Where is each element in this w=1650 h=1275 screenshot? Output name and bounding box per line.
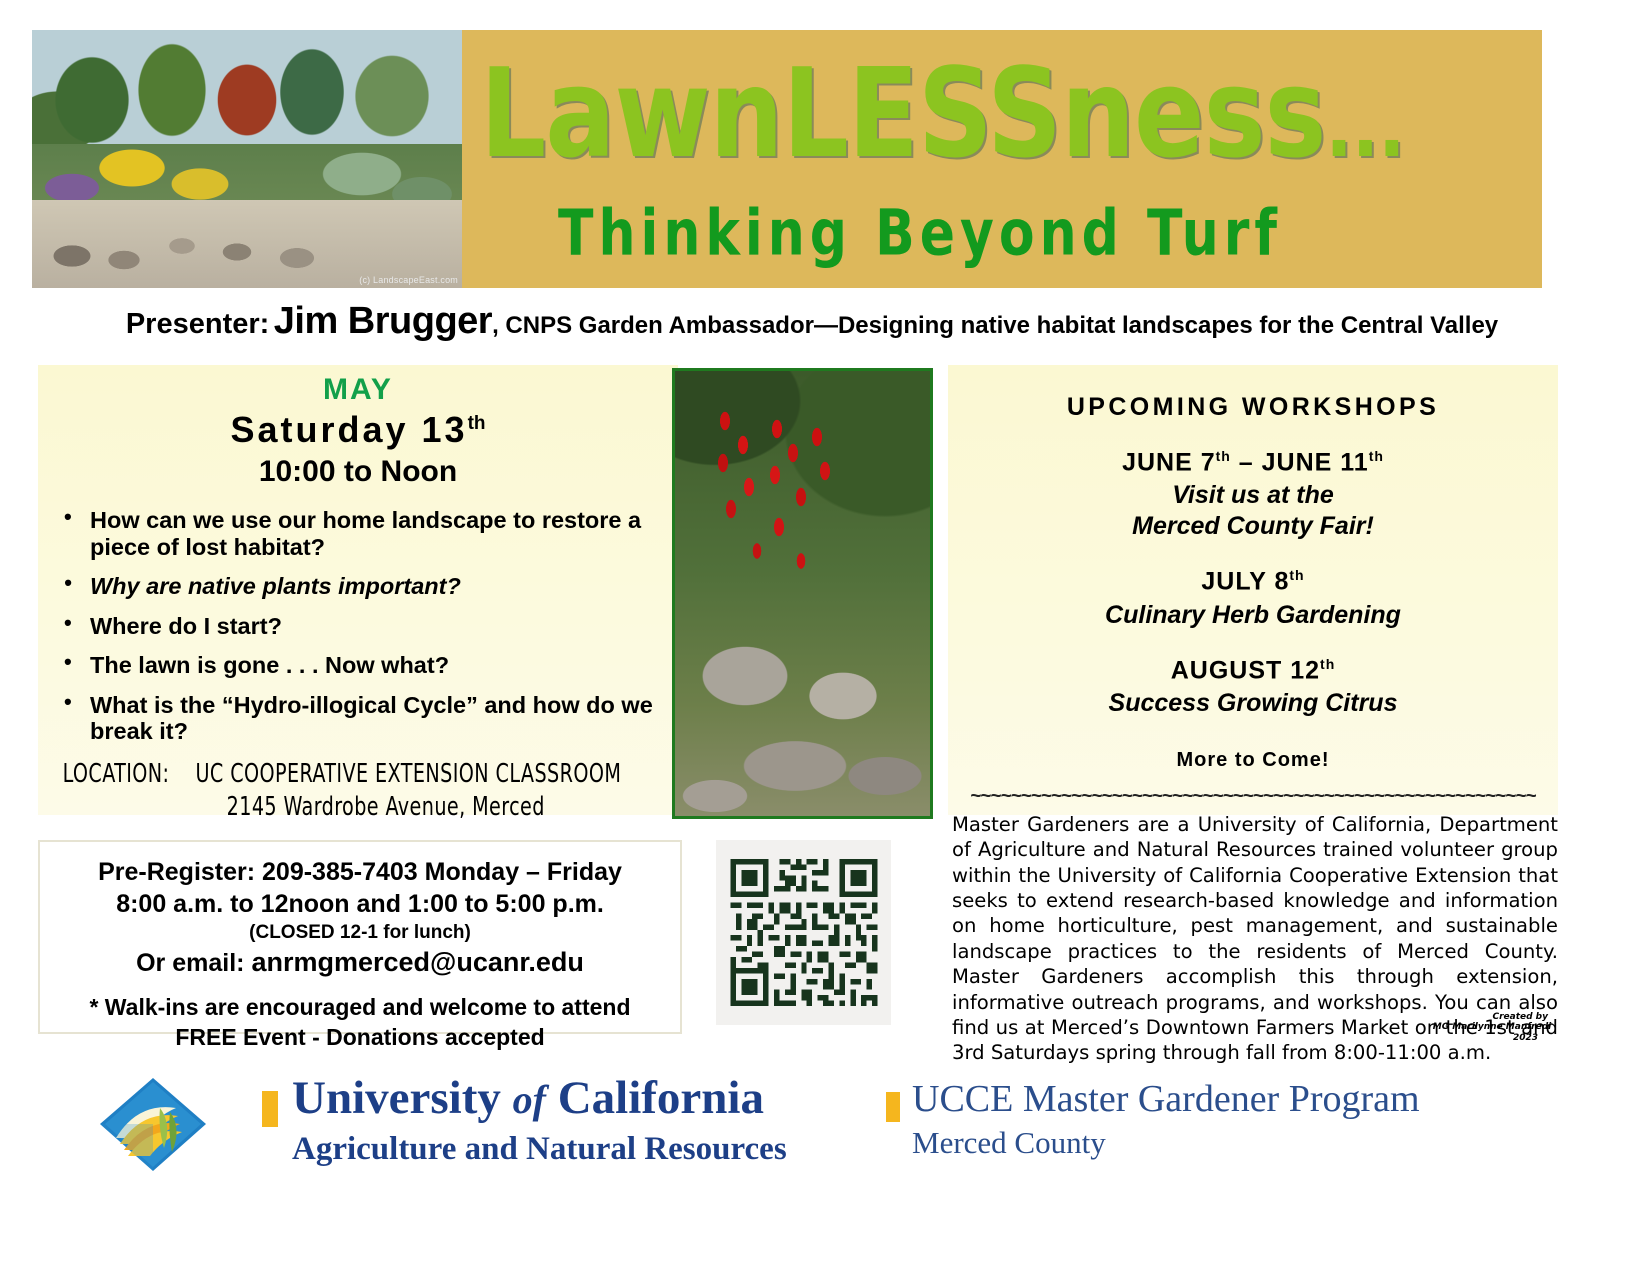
event-time: 10:00 to Noon	[38, 455, 678, 489]
location-line-1: LOCATION: UC COOPERATIVE EXTENSION CLASS…	[38, 759, 678, 789]
list-item: Where do I start?	[90, 613, 664, 640]
uc-line-2: Agriculture and Natural Resources	[292, 1131, 787, 1168]
workshop-name: Culinary Herb Gardening	[948, 600, 1558, 631]
list-item: Why are native plants important?	[90, 573, 664, 600]
event-day-suffix: th	[468, 413, 486, 434]
presenter-name: Jim Brugger	[274, 300, 492, 342]
mg-program-wordmark: UCCE Master Gardener Program Merced Coun…	[886, 1080, 1420, 1161]
header-banner: (c) LandscapeEast.com LawnLESSness... Th…	[32, 30, 1542, 288]
location-block: LOCATION: UC COOPERATIVE EXTENSION CLASS…	[38, 759, 678, 822]
workshops-heading: UPCOMING WORKSHOPS	[948, 365, 1558, 422]
list-item: How can we use our home landscape to res…	[90, 507, 664, 560]
credit-line-3: 2023	[1432, 1033, 1552, 1043]
event-details-panel: MAY Saturday 13th 10:00 to Noon How can …	[38, 365, 678, 815]
presenter-label: Presenter:	[126, 308, 269, 340]
hero-garden-photo: (c) LandscapeEast.com	[32, 30, 462, 288]
gold-bar-icon	[886, 1092, 900, 1122]
upcoming-workshops-panel: UPCOMING WORKSHOPS JUNE 7th – JUNE 11th …	[948, 365, 1558, 815]
footer-logos: University of California Agriculture and…	[0, 1060, 1650, 1190]
photo-red-flowers	[705, 401, 845, 631]
workshop-item: JUNE 7th – JUNE 11th Visit us at the Mer…	[948, 448, 1558, 541]
photo-boulders	[675, 626, 930, 816]
page-subtitle: Thinking Beyond Turf	[558, 202, 1282, 265]
mg-line-2: Merced County	[912, 1125, 1420, 1161]
mg-line-1: UCCE Master Gardener Program	[912, 1078, 1420, 1120]
location-venue: UC COOPERATIVE EXTENSION CLASSROOM	[195, 759, 621, 789]
presenter-line: Presenter: Jim Brugger, CNPS Garden Amba…	[32, 300, 1592, 343]
workshop-date-part1: JULY 8	[1201, 568, 1289, 596]
workshop-date-part2: – JUNE 11	[1231, 448, 1369, 476]
page-title: LawnLESSness...	[480, 52, 1404, 175]
photo-rocks	[32, 216, 462, 278]
created-by-credit: Created by MG Marilynne Manfredi 2023	[1432, 1012, 1552, 1043]
topic-list: How can we use our home landscape to res…	[38, 507, 678, 745]
title-main-text: LawnLESSness	[480, 41, 1325, 185]
gold-bar-icon	[262, 1091, 278, 1127]
workshop-date-sup1: th	[1289, 567, 1304, 583]
workshop-name: Visit us at the Merced County Fair!	[948, 480, 1558, 541]
workshop-date-sup1: th	[1320, 656, 1335, 672]
workshop-date-part1: JUNE 7	[1122, 448, 1216, 476]
uc-line-1-wrap: University of California	[262, 1074, 787, 1127]
email-prefix: Or email:	[136, 949, 251, 977]
register-phone-line: Pre-Register: 209-385-7403 Monday – Frid…	[40, 858, 680, 887]
workshop-date-sup2: th	[1369, 448, 1384, 464]
photo-credit: (c) LandscapeEast.com	[359, 275, 458, 285]
email-address[interactable]: anrmgmerced@ucanr.edu	[251, 947, 583, 977]
native-plant-photo	[672, 368, 933, 819]
location-address: 2145 Wardrobe Avenue, Merced	[38, 792, 678, 822]
walkin-note: * Walk-ins are encouraged and welcome to…	[40, 994, 680, 1021]
uc-anr-wordmark: University of California Agriculture and…	[262, 1074, 787, 1168]
register-email-line: Or email: anrmgmerced@ucanr.edu	[40, 947, 680, 978]
free-event-note: FREE Event - Donations accepted	[40, 1024, 680, 1051]
credit-line-1: Created by	[1432, 1012, 1552, 1022]
uc-word-university: University	[292, 1072, 513, 1124]
qr-code-panel[interactable]	[716, 840, 891, 1025]
list-item: The lawn is gone . . . Now what?	[90, 652, 664, 679]
uc-anr-logo-icon	[98, 1072, 208, 1177]
uc-word-of: of	[513, 1077, 546, 1122]
presenter-role: , CNPS Garden Ambassador—Designing nativ…	[492, 312, 1498, 339]
workshop-item: AUGUST 12th Success Growing Citrus	[948, 656, 1558, 719]
uc-line-1: University of California	[292, 1072, 764, 1124]
header-text-area: LawnLESSness... Thinking Beyond Turf	[462, 30, 1542, 288]
event-day: Saturday 13th	[38, 409, 678, 451]
workshop-date-part1: AUGUST 12	[1171, 656, 1320, 684]
registration-box: Pre-Register: 209-385-7403 Monday – Frid…	[38, 840, 682, 1034]
register-closed-note: (CLOSED 12-1 for lunch)	[40, 922, 680, 944]
mg-line-1-wrap: UCCE Master Gardener Program	[886, 1080, 1420, 1122]
title-ellipsis: ...	[1325, 77, 1404, 176]
event-month: MAY	[38, 373, 678, 407]
workshop-date: JUNE 7th – JUNE 11th	[948, 448, 1558, 477]
credit-line-2: MG Marilynne Manfredi	[1432, 1022, 1552, 1032]
register-hours-line: 8:00 a.m. to 12noon and 1:00 to 5:00 p.m…	[40, 890, 680, 919]
uc-word-california: California	[546, 1072, 764, 1124]
workshop-name: Success Growing Citrus	[948, 688, 1558, 719]
wavy-divider: ~~~~~~~~~~~~~~~~~~~~~~~~~~~~~~~~~~~~~~~~…	[948, 786, 1558, 808]
event-day-text: Saturday 13	[230, 409, 467, 450]
workshop-date: AUGUST 12th	[948, 656, 1558, 685]
list-item: What is the “Hydro-illogical Cycle” and …	[90, 692, 664, 745]
qr-code[interactable]	[725, 850, 883, 1015]
workshop-item: JULY 8th Culinary Herb Gardening	[948, 567, 1558, 630]
more-to-come-note: More to Come!	[948, 749, 1558, 772]
workshop-date-sup1: th	[1216, 448, 1231, 464]
location-label: LOCATION:	[63, 759, 170, 789]
workshop-date: JULY 8th	[948, 567, 1558, 596]
